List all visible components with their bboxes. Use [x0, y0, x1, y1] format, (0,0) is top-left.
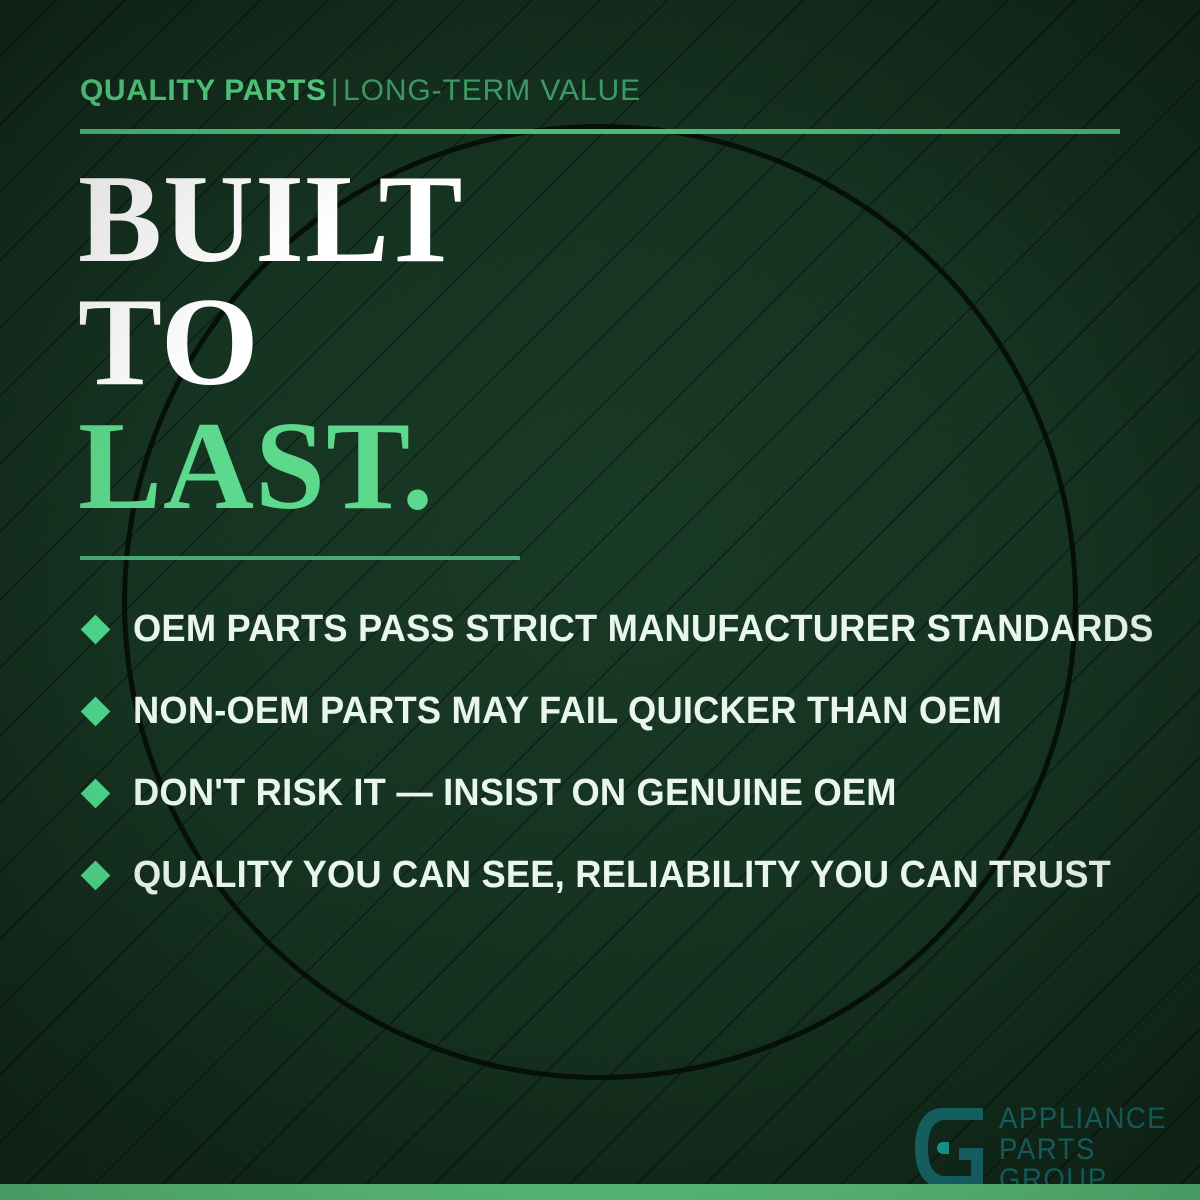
- g-monogram-icon: [909, 1104, 989, 1192]
- benefits-list: OEM PARTS PASS STRICT MANUFACTURER STAND…: [80, 588, 1160, 916]
- list-item-label: OEM PARTS PASS STRICT MANUFACTURER STAND…: [133, 608, 1154, 651]
- headline-line-3: LAST.: [78, 405, 464, 528]
- list-item: OEM PARTS PASS STRICT MANUFACTURER STAND…: [80, 588, 1160, 670]
- logo-word-line-2: PARTS: [999, 1135, 1167, 1166]
- headline-line-1: BUILT: [78, 158, 464, 281]
- diamond-icon: [81, 614, 111, 644]
- kicker-eyebrow: QUALITY PARTS|LONG-TERM VALUE: [80, 74, 641, 108]
- kicker-light-text: LONG-TERM VALUE: [343, 74, 641, 107]
- kicker-separator: |: [327, 74, 343, 107]
- list-item-label: QUALITY YOU CAN SEE, RELIABILITY YOU CAN…: [133, 854, 1111, 897]
- top-divider-rule: [80, 129, 1120, 134]
- list-item: QUALITY YOU CAN SEE, RELIABILITY YOU CAN…: [80, 834, 1160, 916]
- page-title: BUILT TO LAST.: [78, 158, 464, 528]
- logo-word-line-1: APPLIANCE: [999, 1104, 1167, 1135]
- list-item: DON'T RISK IT — INSIST ON GENUINE OEM: [80, 752, 1160, 834]
- kicker-strong-text: QUALITY PARTS: [80, 74, 327, 107]
- promo-poster: QUALITY PARTS|LONG-TERM VALUE BUILT TO L…: [0, 0, 1200, 1200]
- brand-logo: APPLIANCE PARTS GROUP: [909, 1100, 1182, 1196]
- diamond-icon: [81, 696, 111, 726]
- mid-divider-rule: [80, 556, 520, 560]
- list-item: NON-OEM PARTS MAY FAIL QUICKER THAN OEM: [80, 670, 1160, 752]
- diamond-icon: [81, 778, 111, 808]
- list-item-label: DON'T RISK IT — INSIST ON GENUINE OEM: [133, 772, 897, 815]
- list-item-label: NON-OEM PARTS MAY FAIL QUICKER THAN OEM: [133, 690, 1002, 733]
- bottom-accent-bar: [0, 1184, 1200, 1200]
- diamond-icon: [81, 860, 111, 890]
- logo-wordmark: APPLIANCE PARTS GROUP: [999, 1100, 1182, 1196]
- headline-line-2: TO: [78, 281, 464, 404]
